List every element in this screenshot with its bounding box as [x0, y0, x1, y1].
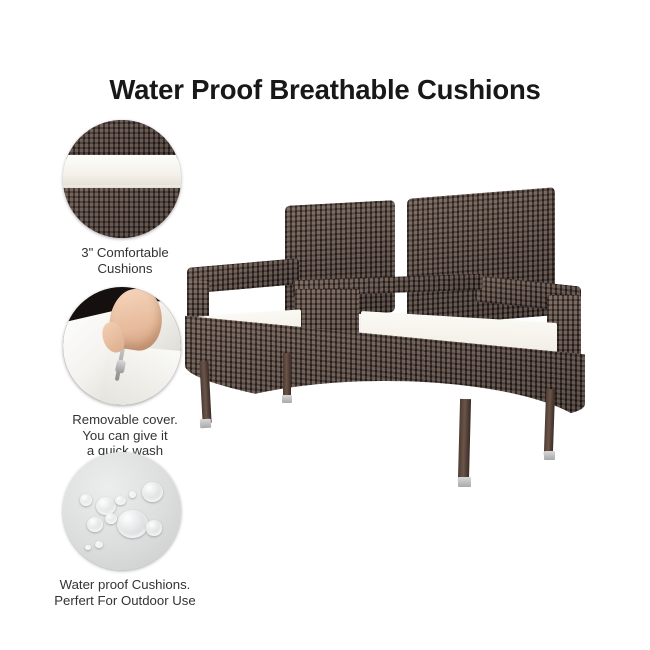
cushion-edge-closeup-photo	[63, 120, 181, 238]
water-droplet-icon	[96, 497, 116, 515]
page-title: Water Proof Breathable Cushions	[0, 74, 650, 106]
rear-right-foot	[544, 451, 555, 460]
front-right-foot	[458, 477, 471, 487]
cushion-cover-flap	[100, 345, 181, 405]
front-right-leg	[458, 399, 471, 481]
infographic-canvas: Water Proof Breathable Cushions 3" Comfo…	[0, 0, 650, 650]
rear-left-foot	[282, 395, 292, 403]
rear-right-leg	[544, 389, 555, 455]
water-droplet-icon	[115, 496, 126, 505]
water-droplet-icon	[142, 482, 163, 502]
water-droplet-icon	[95, 541, 103, 548]
fabric-surface	[63, 452, 181, 570]
rattan-loveseat-with-center-table	[175, 185, 595, 525]
hand-unzipping-cover-photo	[63, 287, 181, 405]
feature-caption: Water proof Cushions. Perfert For Outdoo…	[40, 577, 210, 608]
rear-left-leg	[283, 353, 291, 399]
wicker-texture-top	[63, 120, 181, 159]
wicker-texture-bottom	[63, 188, 181, 238]
water-droplet-icon	[117, 510, 148, 538]
water-droplet-icon	[146, 520, 163, 535]
water-droplets-beading-photo	[63, 452, 181, 570]
front-left-foot	[200, 419, 211, 429]
